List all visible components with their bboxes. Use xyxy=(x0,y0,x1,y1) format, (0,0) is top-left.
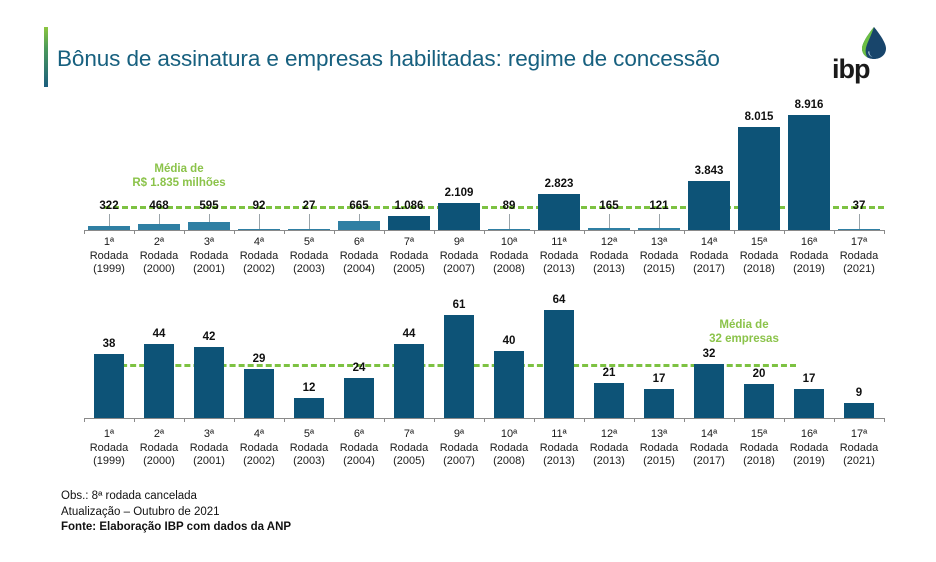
category-label-line: Rodada xyxy=(90,250,129,264)
bar-value-label: 8.916 xyxy=(795,99,824,111)
category-label-line: 16ª xyxy=(790,236,829,250)
category-label: 16ªRodada(2019) xyxy=(790,428,829,469)
category-label-line: 9ª xyxy=(440,236,479,250)
x-axis-tick xyxy=(134,230,135,234)
bar[interactable] xyxy=(244,369,274,418)
category-label-line: 2ª xyxy=(140,428,179,442)
category-label-line: 15ª xyxy=(740,236,779,250)
category-label-line: Rodada xyxy=(340,442,379,456)
category-label: 7ªRodada(2005) xyxy=(390,236,429,277)
bar[interactable] xyxy=(444,315,474,418)
bar[interactable] xyxy=(88,226,130,230)
bar[interactable] xyxy=(744,384,774,418)
category-label-line: 14ª xyxy=(690,428,729,442)
category-label-line: (1999) xyxy=(90,455,129,469)
bar[interactable] xyxy=(188,222,230,230)
chart-empresas-habilitadas: Média de32 empresas384442291224446140642… xyxy=(84,300,884,424)
x-axis-tick xyxy=(884,230,885,234)
bar-value-label: 92 xyxy=(253,200,266,212)
category-label-line: 12ª xyxy=(590,236,629,250)
x-axis-tick xyxy=(884,418,885,422)
bar-value-label: 27 xyxy=(303,200,316,212)
category-label-line: Rodada xyxy=(690,250,729,264)
category-label: 11ªRodada(2013) xyxy=(540,428,579,469)
category-label-line: Rodada xyxy=(90,442,129,456)
category-label: 16ªRodada(2019) xyxy=(790,236,829,277)
category-label-line: Rodada xyxy=(390,250,429,264)
mean-annotation-line2: R$ 1.835 milhões xyxy=(132,176,225,190)
label-leader-line xyxy=(159,214,160,224)
category-label-line: Rodada xyxy=(790,442,829,456)
category-label: 5ªRodada(2003) xyxy=(290,428,329,469)
mean-annotation: Média deR$ 1.835 milhões xyxy=(132,162,225,190)
bar-value-label: 61 xyxy=(453,299,466,311)
footnotes: Obs.: 8ª rodada cancelada Atualização – … xyxy=(61,489,291,536)
category-label-line: 15ª xyxy=(740,428,779,442)
category-label-line: 6ª xyxy=(340,428,379,442)
category-label-line: 11ª xyxy=(540,236,579,250)
category-label-line: (2003) xyxy=(290,455,329,469)
category-label-line: 17ª xyxy=(840,236,879,250)
bar-value-label: 64 xyxy=(553,294,566,306)
x-axis-tick xyxy=(584,418,585,422)
category-label-line: (2007) xyxy=(440,263,479,277)
category-label: 15ªRodada(2018) xyxy=(740,428,779,469)
category-label: 14ªRodada(2017) xyxy=(690,236,729,277)
footnote-obs: Obs.: 8ª rodada cancelada xyxy=(61,489,291,505)
bar-value-label: 20 xyxy=(753,368,766,380)
category-label-line: 7ª xyxy=(390,236,429,250)
category-label: 11ªRodada(2013) xyxy=(540,236,579,277)
bar-value-label: 595 xyxy=(199,200,218,212)
category-label-line: (2008) xyxy=(490,263,529,277)
bar[interactable] xyxy=(538,194,580,230)
bar[interactable] xyxy=(94,354,124,418)
bar[interactable] xyxy=(394,344,424,418)
x-axis-tick xyxy=(184,230,185,234)
category-label-line: 13ª xyxy=(640,236,679,250)
bar-value-label: 32 xyxy=(703,348,716,360)
category-label: 4ªRodada(2002) xyxy=(240,236,279,277)
category-label-line: Rodada xyxy=(190,250,229,264)
label-leader-line xyxy=(509,214,510,229)
bar[interactable] xyxy=(494,351,524,418)
bar-value-label: 8.015 xyxy=(745,111,774,123)
category-label-line: 4ª xyxy=(240,236,279,250)
label-leader-line xyxy=(109,214,110,226)
bar[interactable] xyxy=(488,229,530,230)
category-label-line: 16ª xyxy=(790,428,829,442)
bar[interactable] xyxy=(238,229,280,230)
x-axis-tick xyxy=(784,230,785,234)
bar-value-label: 468 xyxy=(149,200,168,212)
bar[interactable] xyxy=(588,228,630,230)
label-leader-line xyxy=(609,214,610,228)
bar-value-label: 165 xyxy=(599,200,618,212)
bar-value-label: 89 xyxy=(503,200,516,212)
bar[interactable] xyxy=(294,398,324,418)
bar[interactable] xyxy=(344,378,374,418)
category-label: 9ªRodada(2007) xyxy=(440,236,479,277)
x-axis-tick xyxy=(334,230,335,234)
category-label-line: Rodada xyxy=(690,442,729,456)
category-label-line: (1999) xyxy=(90,263,129,277)
category-label-line: (2018) xyxy=(740,263,779,277)
chart-empresas-categories: 1ªRodada(1999)2ªRodada(2000)3ªRodada(200… xyxy=(84,428,884,478)
category-label-line: (2005) xyxy=(390,263,429,277)
bar-value-label: 42 xyxy=(203,331,216,343)
bar[interactable] xyxy=(688,181,730,230)
bar[interactable] xyxy=(638,228,680,230)
x-axis-tick xyxy=(584,230,585,234)
category-label-line: Rodada xyxy=(640,442,679,456)
category-label-line: Rodada xyxy=(840,442,879,456)
category-label: 4ªRodada(2002) xyxy=(240,428,279,469)
x-axis-tick xyxy=(84,230,85,234)
x-axis-tick xyxy=(484,230,485,234)
category-label-line: (2008) xyxy=(490,455,529,469)
bar-value-label: 665 xyxy=(349,200,368,212)
category-label-line: (2000) xyxy=(140,263,179,277)
category-label-line: 3ª xyxy=(190,236,229,250)
category-label-line: Rodada xyxy=(390,442,429,456)
bar[interactable] xyxy=(288,229,330,230)
bar[interactable] xyxy=(338,221,380,230)
mean-annotation-line1: Média de xyxy=(709,318,779,332)
plot-area-empresas: Média de32 empresas384442291224446140642… xyxy=(84,300,884,424)
category-label-line: 12ª xyxy=(590,428,629,442)
bar-value-label: 24 xyxy=(353,362,366,374)
bar[interactable] xyxy=(838,229,880,230)
category-label-line: 1ª xyxy=(90,236,129,250)
x-axis-tick xyxy=(834,230,835,234)
mean-annotation: Média de32 empresas xyxy=(709,318,779,346)
category-label-line: Rodada xyxy=(590,250,629,264)
x-axis-tick xyxy=(734,230,735,234)
x-axis-tick xyxy=(184,418,185,422)
category-label-line: (2013) xyxy=(590,263,629,277)
category-label: 14ªRodada(2017) xyxy=(690,428,729,469)
x-axis-tick xyxy=(684,230,685,234)
category-label-line: (2017) xyxy=(690,455,729,469)
category-label-line: (2018) xyxy=(740,455,779,469)
header: Bônus de assinatura e empresas habilitad… xyxy=(0,0,936,100)
bar-value-label: 17 xyxy=(653,373,666,385)
category-label-line: 1ª xyxy=(90,428,129,442)
x-axis-tick xyxy=(534,230,535,234)
category-label-line: 4ª xyxy=(240,428,279,442)
label-leader-line xyxy=(659,214,660,228)
category-label-line: Rodada xyxy=(440,250,479,264)
category-label-line: Rodada xyxy=(540,250,579,264)
category-label-line: 13ª xyxy=(640,428,679,442)
x-axis-tick xyxy=(134,418,135,422)
x-axis-tick xyxy=(384,418,385,422)
category-label-line: (2003) xyxy=(290,263,329,277)
x-axis-tick xyxy=(684,418,685,422)
category-label: 6ªRodada(2004) xyxy=(340,428,379,469)
category-label-line: 7ª xyxy=(390,428,429,442)
x-axis-tick xyxy=(434,230,435,234)
category-label-line: Rodada xyxy=(540,442,579,456)
category-label-line: Rodada xyxy=(440,442,479,456)
bar-value-label: 44 xyxy=(403,328,416,340)
x-axis-tick xyxy=(784,418,785,422)
category-label-line: (2004) xyxy=(340,455,379,469)
category-label-line: (2017) xyxy=(690,263,729,277)
x-axis-tick xyxy=(834,418,835,422)
x-axis-tick xyxy=(284,418,285,422)
bar[interactable] xyxy=(644,389,674,418)
x-axis-tick xyxy=(84,418,85,422)
category-label-line: Rodada xyxy=(790,250,829,264)
category-label-line: (2015) xyxy=(640,263,679,277)
x-axis-tick xyxy=(434,418,435,422)
bar[interactable] xyxy=(144,344,174,418)
bar[interactable] xyxy=(844,403,874,418)
bar[interactable] xyxy=(138,224,180,230)
category-label-line: Rodada xyxy=(240,250,279,264)
mean-annotation-line2: 32 empresas xyxy=(709,332,779,346)
page-title: Bônus de assinatura e empresas habilitad… xyxy=(57,46,720,72)
category-label-line: 2ª xyxy=(140,236,179,250)
bar[interactable] xyxy=(438,203,480,230)
bar-value-label: 3.843 xyxy=(695,165,724,177)
category-label-line: 6ª xyxy=(340,236,379,250)
category-label-line: 5ª xyxy=(290,428,329,442)
category-label-line: Rodada xyxy=(740,250,779,264)
category-label-line: 9ª xyxy=(440,428,479,442)
category-label: 15ªRodada(2018) xyxy=(740,236,779,277)
category-label-line: Rodada xyxy=(190,442,229,456)
chart-bonus-categories: 1ªRodada(1999)2ªRodada(2000)3ªRodada(200… xyxy=(84,236,884,286)
category-label-line: 10ª xyxy=(490,428,529,442)
bar-value-label: 2.109 xyxy=(445,187,474,199)
category-label: 6ªRodada(2004) xyxy=(340,236,379,277)
category-label-line: (2004) xyxy=(340,263,379,277)
bar[interactable] xyxy=(194,347,224,418)
label-leader-line xyxy=(359,214,360,221)
title-accent-bar xyxy=(44,27,48,87)
bar-value-label: 40 xyxy=(503,335,516,347)
label-leader-line xyxy=(259,214,260,229)
category-label: 1ªRodada(1999) xyxy=(90,236,129,277)
footnote-fonte: Fonte: Elaboração IBP com dados da ANP xyxy=(61,520,291,536)
category-label-line: 3ª xyxy=(190,428,229,442)
bar-value-label: 29 xyxy=(253,353,266,365)
bar[interactable] xyxy=(544,310,574,418)
x-axis-tick xyxy=(284,230,285,234)
category-label-line: (2013) xyxy=(540,263,579,277)
x-axis-tick xyxy=(384,230,385,234)
bar-value-label: 9 xyxy=(856,387,862,399)
category-label-line: Rodada xyxy=(490,250,529,264)
label-leader-line xyxy=(209,214,210,222)
x-axis-tick xyxy=(484,418,485,422)
category-label-line: 11ª xyxy=(540,428,579,442)
label-leader-line xyxy=(309,214,310,229)
category-label: 13ªRodada(2015) xyxy=(640,428,679,469)
category-label: 10ªRodada(2008) xyxy=(490,236,529,277)
category-label-line: (2013) xyxy=(540,455,579,469)
category-label: 7ªRodada(2005) xyxy=(390,428,429,469)
category-label: 12ªRodada(2013) xyxy=(590,428,629,469)
category-label-line: (2000) xyxy=(140,455,179,469)
category-label: 13ªRodada(2015) xyxy=(640,236,679,277)
category-label: 17ªRodada(2021) xyxy=(840,428,879,469)
category-label-line: (2001) xyxy=(190,455,229,469)
category-label-line: (2002) xyxy=(240,263,279,277)
label-leader-line xyxy=(859,214,860,229)
mean-annotation-line1: Média de xyxy=(132,162,225,176)
bar-value-label: 322 xyxy=(99,200,118,212)
x-axis-tick xyxy=(234,418,235,422)
x-axis-tick xyxy=(734,418,735,422)
category-label-line: Rodada xyxy=(740,442,779,456)
category-label-line: Rodada xyxy=(340,250,379,264)
bar-value-label: 37 xyxy=(853,200,866,212)
category-label: 3ªRodada(2001) xyxy=(190,236,229,277)
category-label: 5ªRodada(2003) xyxy=(290,236,329,277)
category-label-line: (2001) xyxy=(190,263,229,277)
category-label-line: Rodada xyxy=(640,250,679,264)
x-axis-tick xyxy=(234,230,235,234)
category-label: 10ªRodada(2008) xyxy=(490,428,529,469)
x-axis-tick xyxy=(534,418,535,422)
category-label: 1ªRodada(1999) xyxy=(90,428,129,469)
category-label: 3ªRodada(2001) xyxy=(190,428,229,469)
category-label: 2ªRodada(2000) xyxy=(140,236,179,277)
bar-value-label: 121 xyxy=(649,200,668,212)
category-label-line: (2007) xyxy=(440,455,479,469)
category-label-line: (2021) xyxy=(840,455,879,469)
category-label-line: Rodada xyxy=(590,442,629,456)
x-axis-tick xyxy=(634,230,635,234)
bar[interactable] xyxy=(788,115,830,230)
category-label-line: (2005) xyxy=(390,455,429,469)
bar-value-label: 38 xyxy=(103,338,116,350)
bar[interactable] xyxy=(694,364,724,418)
bar-value-label: 21 xyxy=(603,367,616,379)
category-label-line: (2002) xyxy=(240,455,279,469)
ibp-logo-text: ibp xyxy=(832,56,870,83)
category-label: 2ªRodada(2000) xyxy=(140,428,179,469)
bar[interactable] xyxy=(794,389,824,418)
bar-value-label: 2.823 xyxy=(545,178,574,190)
bar-value-label: 12 xyxy=(303,382,316,394)
category-label-line: Rodada xyxy=(240,442,279,456)
category-label-line: 17ª xyxy=(840,428,879,442)
x-axis-tick xyxy=(634,418,635,422)
category-label-line: (2019) xyxy=(790,263,829,277)
footnote-atualizacao: Atualização – Outubro de 2021 xyxy=(61,505,291,521)
category-label-line: Rodada xyxy=(140,442,179,456)
category-label-line: (2019) xyxy=(790,455,829,469)
category-label-line: Rodada xyxy=(290,442,329,456)
bar-value-label: 44 xyxy=(153,328,166,340)
category-label-line: 14ª xyxy=(690,236,729,250)
category-label-line: Rodada xyxy=(490,442,529,456)
x-axis-tick xyxy=(334,418,335,422)
category-label-line: Rodada xyxy=(140,250,179,264)
ibp-logo: ibp xyxy=(832,26,896,86)
category-label-line: (2013) xyxy=(590,455,629,469)
bar[interactable] xyxy=(388,216,430,230)
category-label: 9ªRodada(2007) xyxy=(440,428,479,469)
category-label-line: 5ª xyxy=(290,236,329,250)
bar-value-label: 1.086 xyxy=(395,200,424,212)
bar-value-label: 17 xyxy=(803,373,816,385)
category-label-line: 10ª xyxy=(490,236,529,250)
category-label-line: (2021) xyxy=(840,263,879,277)
category-label-line: Rodada xyxy=(290,250,329,264)
category-label-line: (2015) xyxy=(640,455,679,469)
bar[interactable] xyxy=(738,127,780,230)
category-label: 17ªRodada(2021) xyxy=(840,236,879,277)
category-label: 12ªRodada(2013) xyxy=(590,236,629,277)
bar[interactable] xyxy=(594,383,624,418)
category-label-line: Rodada xyxy=(840,250,879,264)
